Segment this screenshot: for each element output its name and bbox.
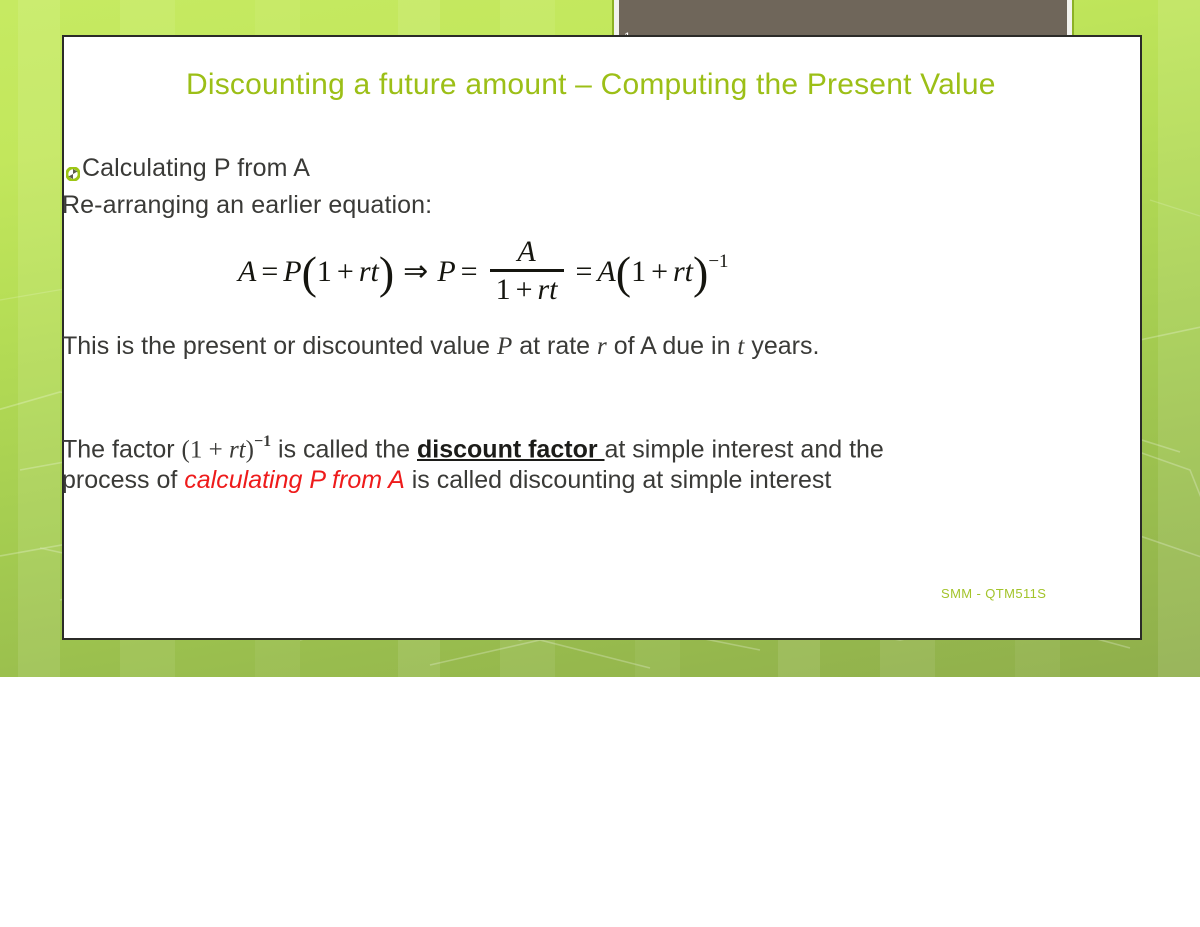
eq-P-2: P bbox=[437, 257, 455, 287]
eq-exponent: −1 bbox=[708, 252, 728, 271]
para2-seg4: is called discounting at simple interest bbox=[405, 466, 832, 494]
text-rearranging-equation: Re-arranging an earlier equation: bbox=[62, 187, 762, 223]
para1-seg2: at rate bbox=[512, 332, 597, 360]
eq-plus-2: + bbox=[651, 257, 668, 287]
eq-frac-numerator: A bbox=[507, 237, 545, 269]
slide-canvas: 1 Discounting a future amount – Computin… bbox=[0, 0, 1200, 677]
eq-fraction: A 1+rt bbox=[490, 237, 564, 305]
term-calculating-p-from-a: calculating P from A bbox=[184, 466, 404, 494]
eq-den-plus: + bbox=[516, 273, 533, 306]
para1-var-r: r bbox=[597, 333, 607, 360]
green-circle-bullet-icon bbox=[66, 167, 80, 181]
eq-den-rt: rt bbox=[537, 273, 557, 306]
para1-seg1: This is the present or discounted value bbox=[62, 332, 497, 360]
eq-rt-1: rt bbox=[359, 257, 379, 287]
para2-seg1: The factor bbox=[62, 435, 182, 463]
page-title: Discounting a future amount – Computing … bbox=[186, 64, 1006, 105]
eq-P-1: P bbox=[283, 257, 301, 287]
para2-seg2: is called the bbox=[271, 435, 417, 463]
para2-math-open: (1 + bbox=[182, 436, 229, 463]
eq-equals-1: = bbox=[261, 257, 278, 287]
para1-var-P: P bbox=[497, 333, 512, 360]
eq-lhs-A: A bbox=[238, 257, 256, 287]
paragraph-discount-factor: The factor (1 + rt)−1 is called the disc… bbox=[62, 429, 962, 495]
para2-math-close: ) bbox=[246, 436, 254, 463]
eq-den-one: 1 bbox=[496, 273, 511, 306]
eq-frac-denominator: 1+rt bbox=[490, 272, 564, 305]
eq-A-2: A bbox=[597, 257, 615, 287]
eq-equals-3: = bbox=[576, 257, 593, 287]
para1-seg4: years. bbox=[744, 332, 819, 360]
paragraph-present-value: This is the present or discounted value … bbox=[62, 330, 902, 363]
eq-implies: ⇒ bbox=[403, 257, 428, 287]
para2-math-rt: rt bbox=[229, 436, 246, 463]
eq-equals-2: = bbox=[461, 257, 478, 287]
para2-math-exponent: −1 bbox=[254, 433, 271, 450]
display-equation: A = P ( 1 + rt ) ⇒ P = A 1+rt = A ( 1 + … bbox=[238, 238, 729, 306]
eq-plus-1: + bbox=[337, 257, 354, 287]
eq-one-1: 1 bbox=[317, 257, 332, 287]
footer-course-code: SMM - QTM511S bbox=[941, 586, 1046, 601]
eq-one-2: 1 bbox=[631, 257, 646, 287]
term-discount-factor: discount factor bbox=[417, 435, 605, 463]
para1-seg3: of A due in bbox=[607, 332, 738, 360]
eq-rt-2: rt bbox=[673, 257, 693, 287]
text-calculating-p-from-a: Calculating P from A bbox=[82, 150, 782, 186]
